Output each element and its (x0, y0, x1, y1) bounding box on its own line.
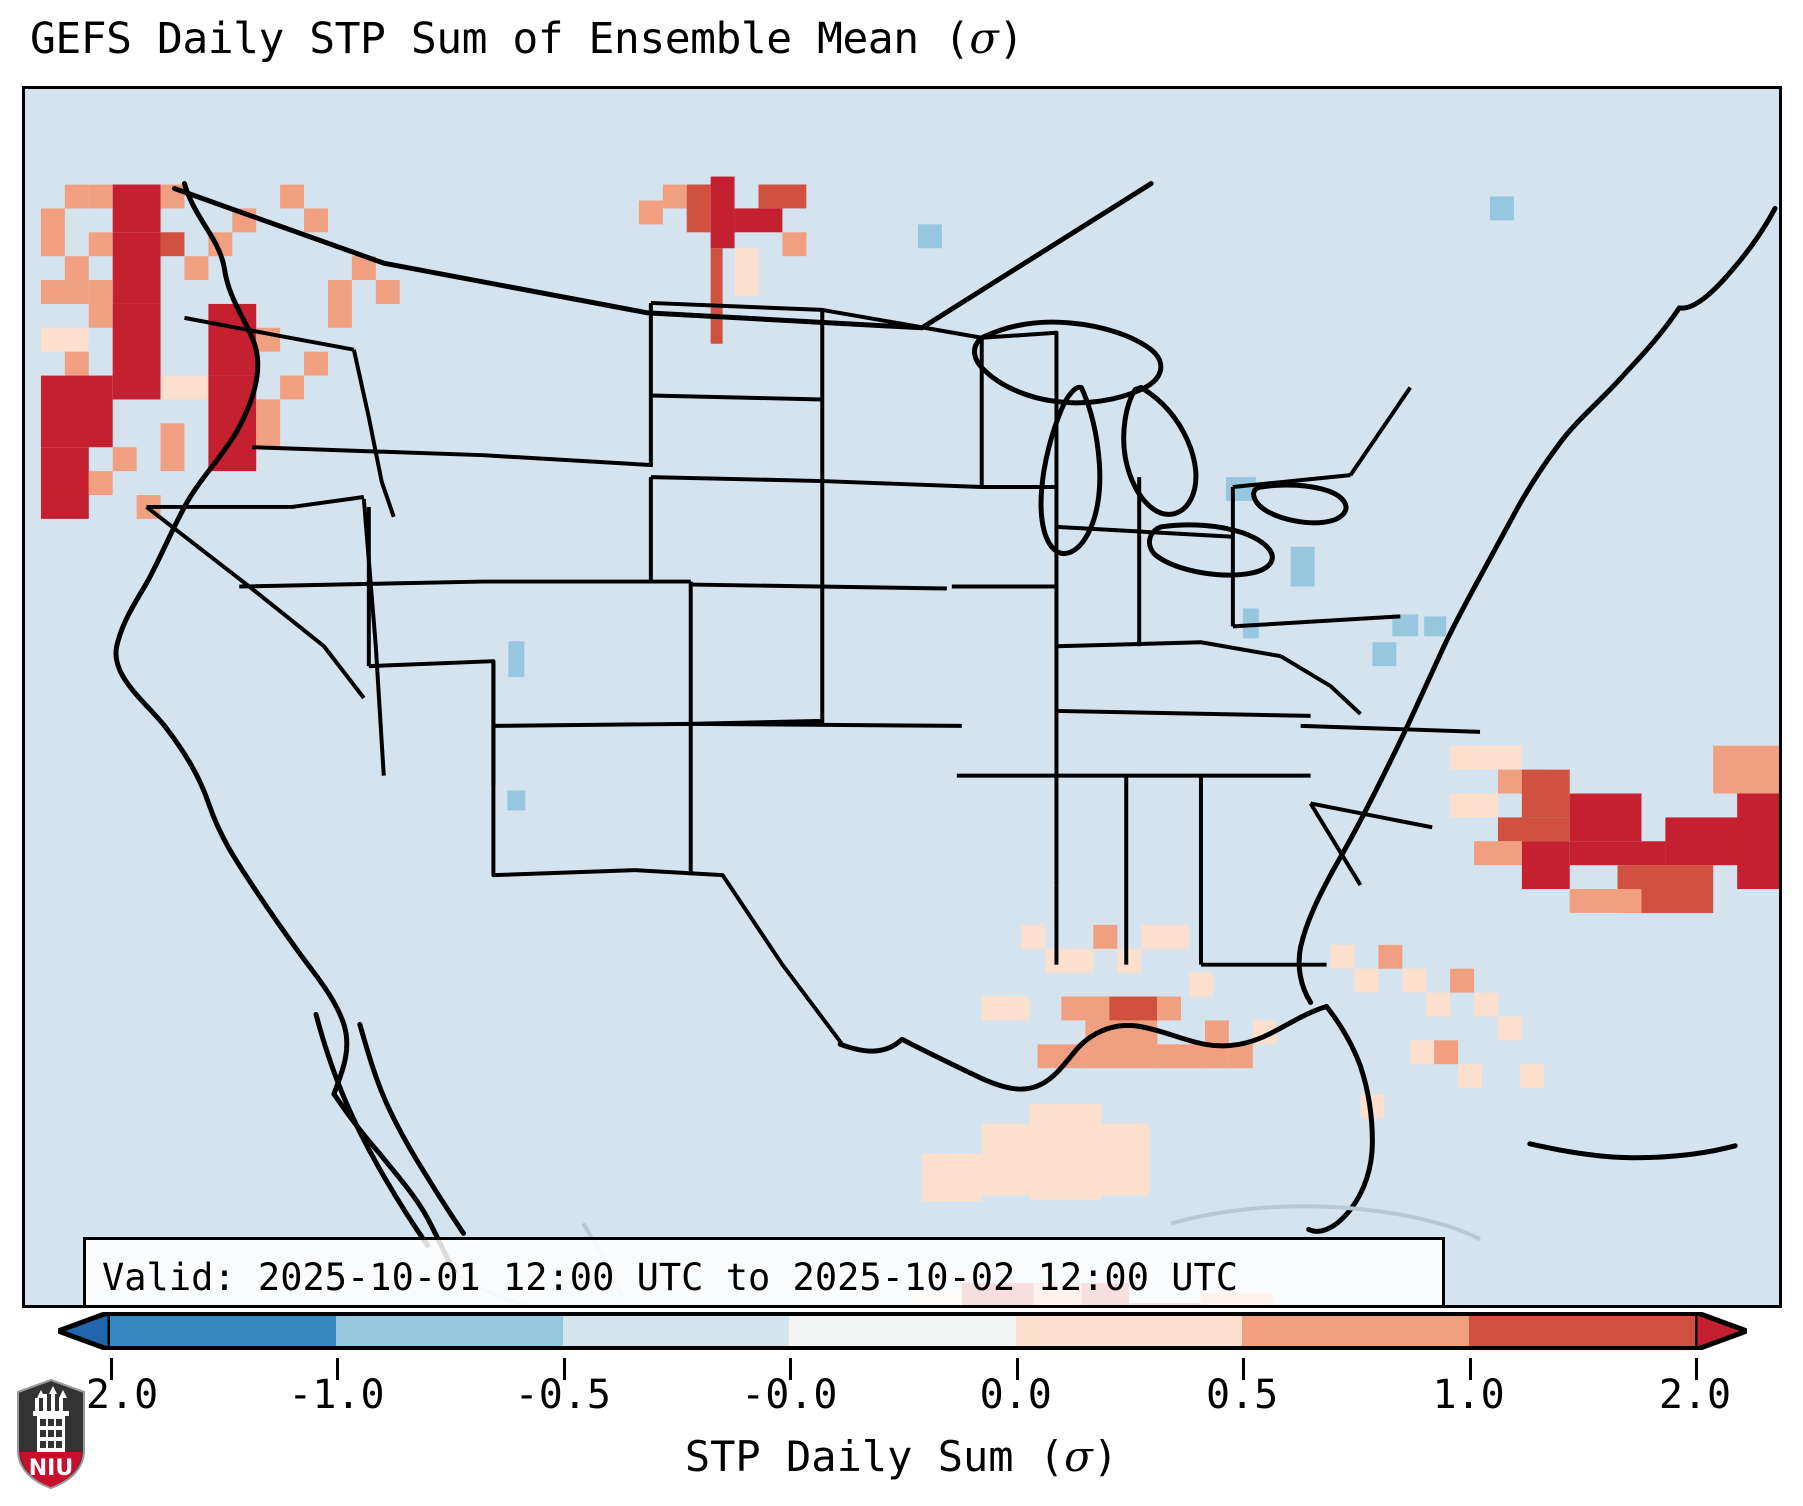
heatmap-cell (280, 185, 304, 209)
heatmap-cell (1490, 196, 1514, 220)
heatmap-cell (1157, 1044, 1205, 1068)
heatmap-cell (89, 280, 113, 328)
heatmap-cell (1522, 770, 1570, 818)
heatmap-cell (782, 232, 806, 256)
colorbar-band-0 (110, 1316, 336, 1346)
heatmap-cell (1226, 477, 1256, 501)
heatmap-cell (41, 208, 65, 256)
valid-run-annotation: Valid: 2025-10-01 12:00 UTC to 2025-10-0… (83, 1237, 1445, 1308)
colorbar-label-suffix: ) (1093, 1432, 1118, 1481)
heatmap-cell (982, 1124, 1030, 1196)
heatmap-cell (1410, 1040, 1434, 1064)
heatmap-cell (1450, 794, 1498, 818)
colorbar[interactable] (0, 1308, 1803, 1358)
heatmap-cell (507, 791, 525, 811)
map-plot-area[interactable]: Valid: 2025-10-01 12:00 UTC to 2025-10-0… (22, 86, 1782, 1308)
heatmap-cell (113, 304, 161, 400)
heatmap-cell (208, 376, 256, 472)
annotation-run-line: Run: 2025-09-28 00:00 UTC (102, 1301, 1426, 1308)
heatmap-cell (113, 185, 161, 233)
logo-castle-windows (40, 1419, 62, 1448)
heatmap-cell (1570, 889, 1642, 913)
heatmap-cell (328, 280, 352, 328)
heatmap-cell (1424, 616, 1446, 636)
colorbar-band-2 (563, 1316, 789, 1346)
colorbar-tick-label-2: -0.5 (515, 1372, 611, 1418)
heatmap-cell (1030, 1104, 1102, 1200)
heatmap-cell (1101, 1124, 1149, 1196)
heatmap-cell (1331, 945, 1355, 969)
heatmap-cell (65, 256, 89, 280)
heatmap-cell (89, 185, 113, 209)
heatmap-cell (758, 185, 806, 209)
heatmap-cell (376, 280, 400, 304)
heatmap-cell (161, 376, 209, 400)
heatmap-cell (1291, 547, 1315, 587)
heatmap-cell (1450, 969, 1474, 993)
heatmap-cell (280, 376, 304, 400)
heatmap-cell (1474, 841, 1522, 865)
heatmap-cell (1046, 949, 1094, 973)
heatmap-cell (161, 423, 185, 471)
colorbar-gradient[interactable] (110, 1308, 1695, 1354)
colorbar-tick-label-5: 0.5 (1206, 1372, 1278, 1418)
heatmap-cell (922, 1154, 982, 1202)
colorbar-tick-label-3: -0.0 (741, 1372, 837, 1418)
colorbar-tick-label-6: 1.0 (1432, 1372, 1504, 1418)
state-line-ok-tx (691, 724, 962, 726)
title-text: GEFS Daily STP Sum of Ensemble Mean ( (30, 14, 969, 64)
heatmap-cell (1061, 997, 1109, 1021)
heatmap-cell (89, 471, 113, 495)
heatmap-cell (1189, 973, 1213, 997)
heatmap-cell (1141, 925, 1189, 949)
heatmap-cell (735, 208, 783, 232)
heatmap-cell (41, 280, 89, 304)
colorbar-axis-label: STP Daily Sum (σ) (0, 1432, 1803, 1481)
heatmap-cell (161, 232, 185, 256)
colorbar-extend-high-arrow (1695, 1312, 1747, 1350)
colorbar-band-5 (1242, 1316, 1468, 1346)
colorbar-tick-label-7: 2.0 (1659, 1372, 1731, 1418)
heatmap-cell (1713, 746, 1779, 794)
heatmap-cell (184, 256, 208, 280)
heatmap-cell (508, 641, 524, 677)
heatmap-cell (918, 224, 942, 248)
map-canvas (25, 89, 1779, 1305)
heatmap-cell (65, 352, 89, 376)
heatmap-cell (113, 232, 161, 304)
heatmap-cell (304, 352, 328, 376)
heatmap-cell (89, 232, 113, 256)
colorbar-band-6 (1469, 1316, 1695, 1346)
sigma-symbol: σ (969, 14, 998, 64)
heatmap-cell (41, 376, 113, 448)
heatmap-cell (208, 304, 256, 376)
heatmap-cell (1022, 925, 1046, 949)
heatmap-cell (256, 399, 280, 447)
colorbar-sigma-symbol: σ (1064, 1432, 1093, 1481)
colorbar-tick-label-1: -1.0 (288, 1372, 384, 1418)
colorbar-band-3 (789, 1316, 1015, 1346)
logo-text: NIU (29, 1456, 73, 1481)
heatmap-cell (1458, 1064, 1482, 1088)
colorbar-extend-low-arrow (58, 1312, 110, 1350)
heatmap-cell (1570, 841, 1666, 865)
heatmap-cell (1450, 746, 1474, 770)
title-suffix: ) (998, 14, 1023, 64)
heatmap-cell (1402, 969, 1426, 993)
colorbar-bands (110, 1312, 1695, 1350)
heatmap-cell (1426, 993, 1450, 1017)
heatmap-cell (1474, 993, 1498, 1017)
heatmap-cell (1093, 925, 1117, 949)
colorbar-tick-label-4: 0.0 (980, 1372, 1052, 1418)
heatmap-cell (982, 997, 1030, 1021)
heatmap-cell (1474, 746, 1522, 770)
heatmap-cell (65, 185, 89, 209)
heatmap-cell (711, 177, 735, 249)
heatmap-cell (304, 208, 328, 232)
colorbar-label-text: STP Daily Sum ( (685, 1432, 1064, 1481)
annotation-valid-line: Valid: 2025-10-01 12:00 UTC to 2025-10-0… (102, 1254, 1426, 1301)
colorbar-band-1 (336, 1316, 562, 1346)
heatmap-cell (639, 200, 663, 224)
heatmap-cell (1498, 1016, 1522, 1040)
colorbar-band-4 (1016, 1316, 1242, 1346)
heatmap-cell (687, 185, 711, 233)
heatmap-cell (711, 248, 723, 344)
heatmap-cell (41, 328, 89, 352)
heatmap-cell (1157, 997, 1181, 1021)
heatmap-cell (113, 447, 137, 471)
heatmap-cell (1378, 945, 1402, 969)
colorbar-tick-labels: -2.0-1.0-0.5-0.00.00.51.02.0 (0, 1372, 1803, 1424)
heatmap-cell (1570, 794, 1642, 842)
page-title: GEFS Daily STP Sum of Ensemble Mean (σ) (30, 14, 1024, 64)
heatmap-cell (663, 185, 687, 209)
heatmap-cell (41, 495, 89, 519)
heatmap-cell (1520, 1064, 1544, 1088)
heatmap-cell (1117, 949, 1141, 973)
heatmap-cell (1372, 642, 1396, 666)
heatmap-cell (1229, 1044, 1253, 1068)
heatmap-cell (735, 248, 759, 296)
heatmap-cell (1434, 1040, 1458, 1064)
heatmap-cell (1737, 794, 1779, 890)
heatmap-cell (1354, 969, 1378, 993)
heatmap-cell (1522, 841, 1570, 889)
niu-logo: NIU (12, 1378, 90, 1490)
heatmap-cell (1498, 817, 1570, 841)
heatmap-cell (41, 447, 89, 495)
map-background (25, 89, 1779, 1305)
